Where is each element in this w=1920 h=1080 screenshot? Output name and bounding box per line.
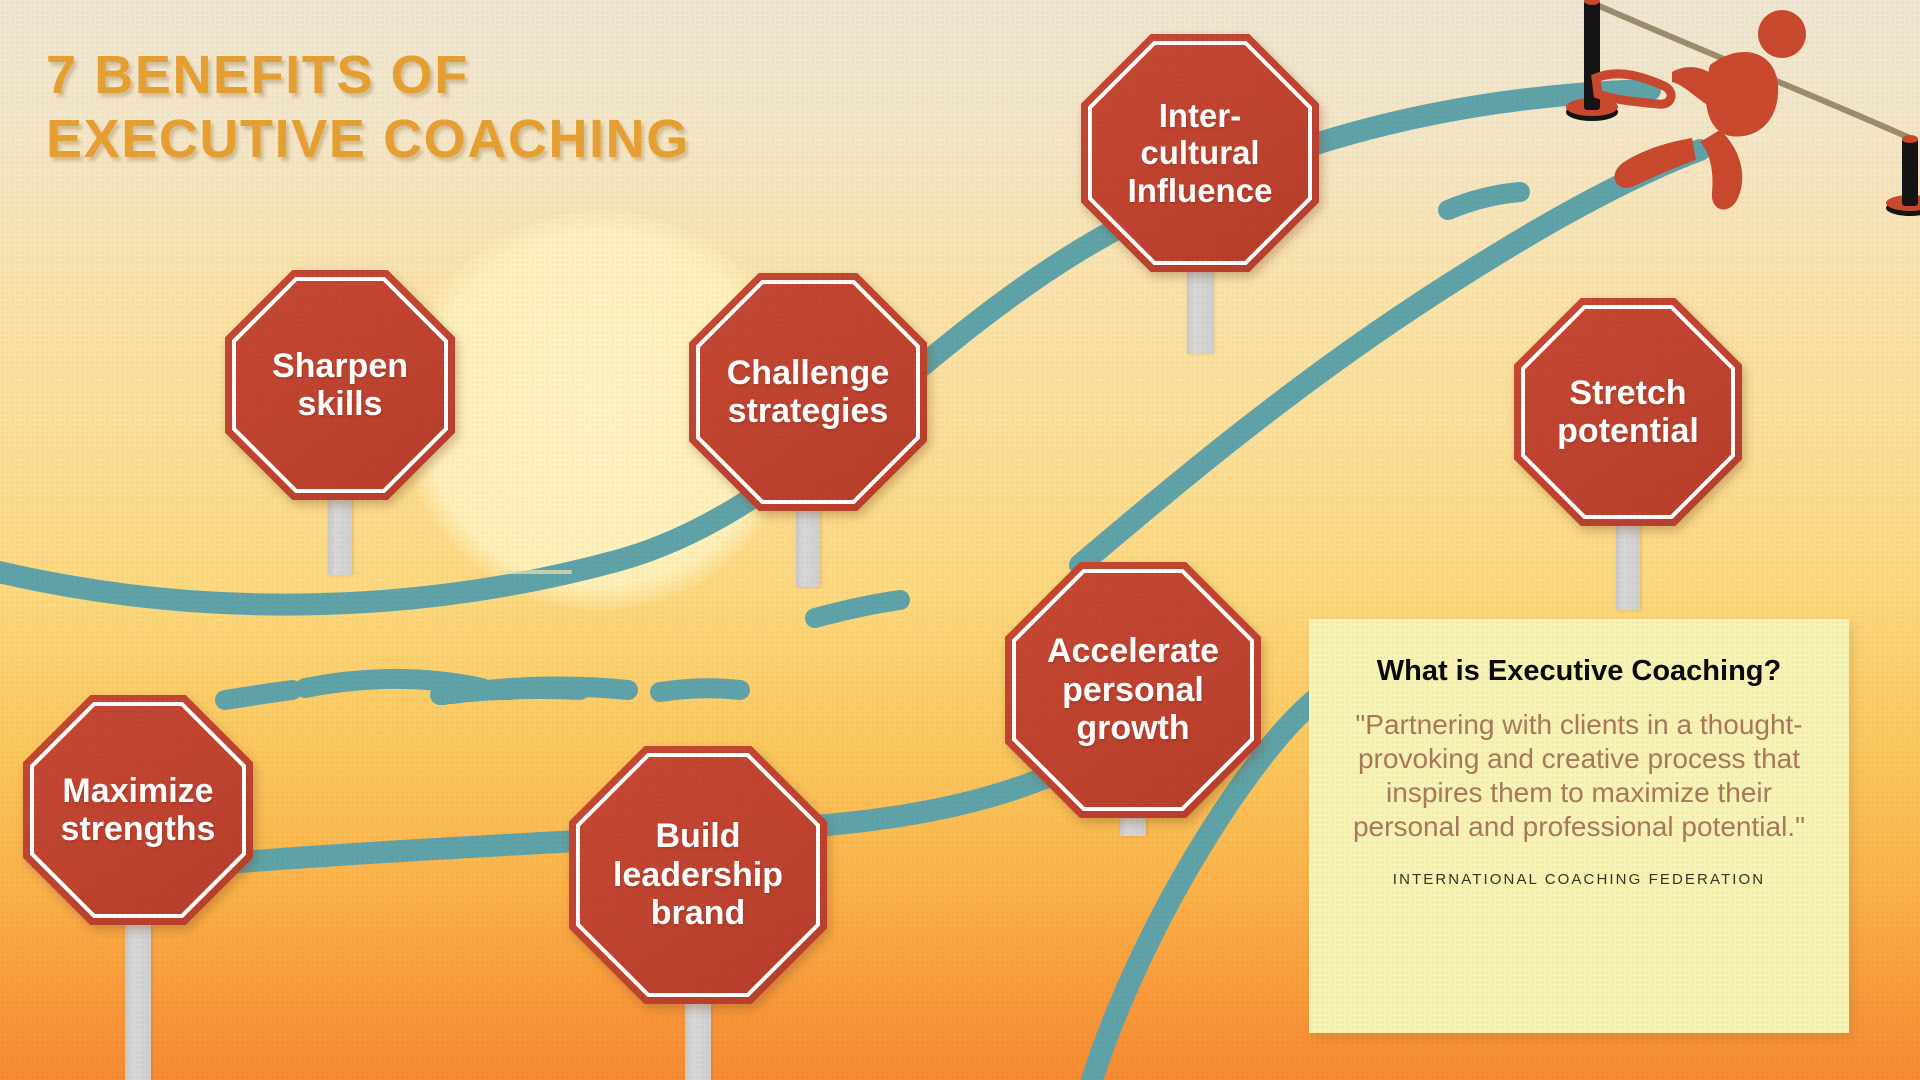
post-stretch <box>1616 518 1640 610</box>
sign-label-accelerate-personal-growth: Accelerate personal growth <box>1041 632 1225 747</box>
runner-finish-line-illustration <box>1560 0 1920 260</box>
sign-challenge-strategies[interactable]: Challenge strategies <box>689 273 927 511</box>
sign-build-leadership-brand[interactable]: Build leadership brand <box>569 746 827 1004</box>
sign-label-challenge-strategies: Challenge strategies <box>721 354 895 431</box>
quote-source-attribution: INTERNATIONAL COACHING FEDERATION <box>1335 871 1823 888</box>
runner-leg-back <box>1615 138 1696 188</box>
finish-post-left <box>1566 0 1618 121</box>
sign-accelerate-personal-growth[interactable]: Accelerate personal growth <box>1005 562 1261 818</box>
page-title: 7 BENEFITS OF EXECUTIVE COACHING <box>46 44 866 171</box>
sign-label-intercultural-influence: Inter- cultural Influence <box>1122 97 1279 209</box>
runner-figure <box>1596 10 1806 209</box>
road-dash-11 <box>1448 192 1520 210</box>
road-dash-9 <box>660 688 740 692</box>
post-maximize <box>125 920 151 1080</box>
post-build <box>685 995 711 1080</box>
road-dash-10 <box>815 600 900 618</box>
sign-label-maximize-strengths: Maximize strengths <box>55 772 222 849</box>
sign-label-stretch-potential: Stretch potential <box>1551 374 1705 451</box>
sign-sharpen-skills[interactable]: Sharpen skills <box>225 270 455 500</box>
sign-intercultural-influence[interactable]: Inter- cultural Influence <box>1081 34 1319 272</box>
post-sharpen <box>328 495 352 575</box>
finish-post-right <box>1886 135 1920 216</box>
post-challenge <box>796 505 820 587</box>
quote-body: "Partnering with clients in a thought-pr… <box>1335 708 1823 845</box>
sign-label-sharpen-skills: Sharpen skills <box>266 347 414 424</box>
runner-head <box>1758 10 1806 58</box>
sign-stretch-potential[interactable]: Stretch potential <box>1514 298 1742 526</box>
sign-label-build-leadership-brand: Build leadership brand <box>607 817 789 932</box>
quote-card: What is Executive Coaching? "Partnering … <box>1309 619 1849 1033</box>
sign-maximize-strengths[interactable]: Maximize strengths <box>23 695 253 925</box>
runner-arm-back <box>1596 74 1671 104</box>
runner-leg-front <box>1700 130 1742 209</box>
infographic-canvas: 7 BENEFITS OF EXECUTIVE COACHING Maximiz… <box>0 0 1920 1080</box>
post-intercultural <box>1187 262 1213 354</box>
quote-heading: What is Executive Coaching? <box>1335 655 1823 688</box>
